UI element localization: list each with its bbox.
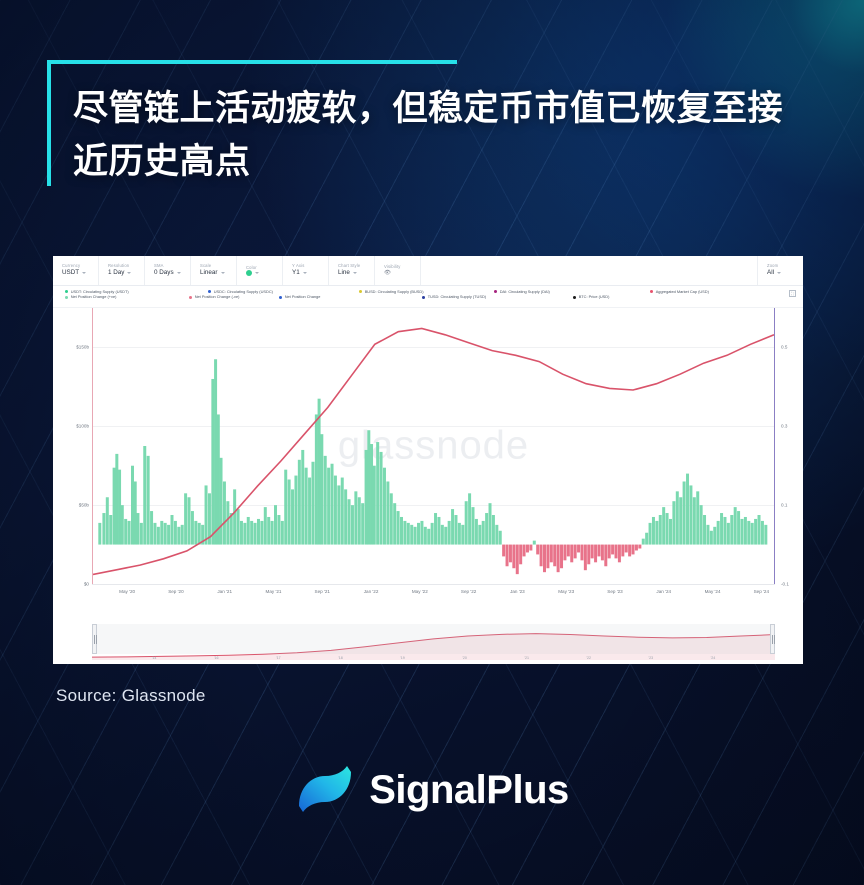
chevron-down-icon bbox=[127, 272, 131, 274]
y-axis-left: $0$50b$100b$150b bbox=[53, 308, 92, 584]
toolbar-resolution[interactable]: Resolution1 Day bbox=[99, 256, 145, 285]
navigator-handle-left[interactable] bbox=[92, 624, 97, 654]
aggregated-market-cap-line bbox=[93, 308, 774, 584]
navigator-tick: '22 bbox=[586, 656, 591, 660]
accent-bar-left bbox=[47, 60, 51, 186]
chevron-down-icon bbox=[777, 272, 781, 274]
toolbar-value-text: Line bbox=[338, 269, 350, 278]
toolbar-value: Linear bbox=[200, 269, 227, 278]
y-axis-left-tick: $50b bbox=[79, 503, 89, 508]
y-axis-right-tick: -0.1 bbox=[781, 582, 789, 587]
navigator-tick: '16 bbox=[214, 656, 219, 660]
legend-color-dot bbox=[65, 296, 68, 299]
y-axis-right: -0.10.10.30.5 bbox=[775, 308, 803, 584]
y-axis-left-tick: $100b bbox=[76, 424, 89, 429]
legend-color-dot bbox=[359, 290, 362, 293]
source-label: Source: Glassnode bbox=[56, 686, 206, 706]
toolbar-value: Line bbox=[338, 269, 365, 278]
toolbar-visibility[interactable]: Visibility👁 bbox=[375, 256, 421, 285]
legend-color-dot bbox=[650, 290, 653, 293]
navigator-tick: '24 bbox=[711, 656, 716, 660]
expand-icon[interactable]: ⛶ bbox=[789, 290, 796, 297]
chart-card: CurrencyUSDTResolution1 DaySMA0 DaysScal… bbox=[53, 256, 803, 664]
x-axis-tick: Sep '23 bbox=[607, 589, 622, 594]
toolbar-chart-style[interactable]: Chart StyleLine bbox=[329, 256, 375, 285]
eye-icon[interactable]: 👁 bbox=[384, 270, 391, 277]
toolbar-sma[interactable]: SMA0 Days bbox=[145, 256, 191, 285]
x-axis-tick: May '24 bbox=[705, 589, 721, 594]
chart-toolbar: CurrencyUSDTResolution1 DaySMA0 DaysScal… bbox=[53, 256, 803, 286]
legend-label: BTC: Price (USD) bbox=[579, 294, 610, 299]
x-axis-tick: Sep '21 bbox=[315, 589, 330, 594]
toolbar-value: All bbox=[767, 269, 781, 278]
page-title: 尽管链上活动疲软，但稳定币市值已恢复至接近历史高点 bbox=[73, 82, 807, 188]
x-axis-tick: Sep '20 bbox=[168, 589, 183, 594]
navigator-tick: '19 bbox=[400, 656, 405, 660]
toolbar-value bbox=[246, 270, 273, 276]
y-axis-right-tick: 0.5 bbox=[781, 345, 787, 350]
toolbar-value-text: 0 Days bbox=[154, 269, 174, 278]
toolbar-value: USDT bbox=[62, 269, 89, 278]
range-navigator[interactable]: '14'16'17'18'19'20'21'22'23'24 bbox=[92, 624, 775, 660]
accent-bar-top bbox=[47, 60, 457, 64]
chevron-down-icon bbox=[255, 272, 259, 274]
signalplus-logo-icon bbox=[295, 762, 355, 818]
toolbar-scale[interactable]: ScaleLinear bbox=[191, 256, 237, 285]
plot-area: $0$50b$100b$150b -0.10.10.30.5 glassnode… bbox=[53, 308, 803, 608]
toolbar-color[interactable]: Color bbox=[237, 256, 283, 285]
navigator-tick: '21 bbox=[524, 656, 529, 660]
chevron-down-icon bbox=[82, 272, 86, 274]
toolbar-value-text: Linear bbox=[200, 269, 218, 278]
toolbar-value: 0 Days bbox=[154, 269, 181, 278]
y-axis-left-tick: $150b bbox=[76, 345, 89, 350]
navigator-tick: '23 bbox=[648, 656, 653, 660]
color-swatch-icon bbox=[246, 270, 252, 276]
navigator-tick: '18 bbox=[338, 656, 343, 660]
legend-color-dot bbox=[189, 296, 192, 299]
x-axis-tick: May '23 bbox=[558, 589, 574, 594]
legend-item[interactable]: Net Position Change (-ve) bbox=[189, 294, 279, 299]
navigator-handle-right[interactable] bbox=[770, 624, 775, 654]
x-axis-tick: Sep '22 bbox=[461, 589, 476, 594]
legend-color-dot bbox=[208, 290, 211, 293]
x-axis-tick: Sep '24 bbox=[754, 589, 769, 594]
chevron-down-icon bbox=[221, 272, 225, 274]
navigator-tick: '14 bbox=[152, 656, 157, 660]
toolbar-value: Y1 bbox=[292, 269, 319, 278]
chevron-down-icon bbox=[353, 272, 357, 274]
chart-legend: ⛶ USDT: Circulating Supply (USDT)USDC: C… bbox=[53, 286, 803, 308]
legend-label: Net Position Change (+ve) bbox=[71, 294, 117, 299]
toolbar-value-text: Y1 bbox=[292, 269, 300, 278]
toolbar-y-axis[interactable]: Y AxisY1 bbox=[283, 256, 329, 285]
x-axis: May '20Sep '20Jan '21May '21Sep '21Jan '… bbox=[92, 584, 775, 600]
legend-color-dot bbox=[422, 296, 425, 299]
legend-label: Net Position Change bbox=[285, 294, 321, 299]
legend-item[interactable]: Net Position Change bbox=[279, 294, 422, 299]
legend-label: Net Position Change (-ve) bbox=[195, 294, 240, 299]
legend-color-dot bbox=[65, 290, 68, 293]
navigator-tick: '20 bbox=[462, 656, 467, 660]
legend-item[interactable]: Net Position Change (+ve) bbox=[65, 294, 189, 299]
toolbar-currency[interactable]: CurrencyUSDT bbox=[53, 256, 99, 285]
legend-color-dot bbox=[279, 296, 282, 299]
plot-canvas: glassnode bbox=[92, 308, 775, 584]
toolbar-zoom[interactable]: ZoomAll bbox=[757, 256, 803, 285]
y-axis-left-tick: $0 bbox=[84, 582, 89, 587]
y-axis-right-tick: 0.3 bbox=[781, 424, 787, 429]
legend-color-dot bbox=[573, 296, 576, 299]
x-axis-tick: Jan '22 bbox=[364, 589, 379, 594]
signalplus-logo-text: SignalPlus bbox=[369, 768, 569, 813]
x-axis-tick: Jan '23 bbox=[510, 589, 525, 594]
x-axis-tick: Jan '21 bbox=[217, 589, 232, 594]
y-axis-right-tick: 0.1 bbox=[781, 503, 787, 508]
toolbar-spacer bbox=[421, 256, 757, 285]
x-axis-tick: May '21 bbox=[265, 589, 281, 594]
toolbar-value: 👁 bbox=[384, 270, 411, 277]
x-axis-tick: May '22 bbox=[412, 589, 428, 594]
chevron-down-icon bbox=[303, 272, 307, 274]
navigator-tick: '17 bbox=[276, 656, 281, 660]
legend-item[interactable]: TUSD: Circulating Supply (TUSD) bbox=[422, 294, 573, 299]
toolbar-value-text: All bbox=[767, 269, 774, 278]
toolbar-value: 1 Day bbox=[108, 269, 135, 278]
chevron-down-icon bbox=[177, 272, 181, 274]
footer-logo: SignalPlus bbox=[0, 762, 864, 818]
legend-label: TUSD: Circulating Supply (TUSD) bbox=[428, 294, 486, 299]
toolbar-value-text: 1 Day bbox=[108, 269, 124, 278]
legend-item[interactable]: BTC: Price (USD) bbox=[573, 294, 708, 299]
x-axis-tick: May '20 bbox=[119, 589, 135, 594]
toolbar-value-text: USDT bbox=[62, 269, 79, 278]
navigator-selection[interactable] bbox=[97, 624, 770, 654]
legend-color-dot bbox=[494, 290, 497, 293]
headline-block: 尽管链上活动疲软，但稳定币市值已恢复至接近历史高点 bbox=[47, 60, 807, 188]
x-axis-tick: Jan '24 bbox=[656, 589, 671, 594]
